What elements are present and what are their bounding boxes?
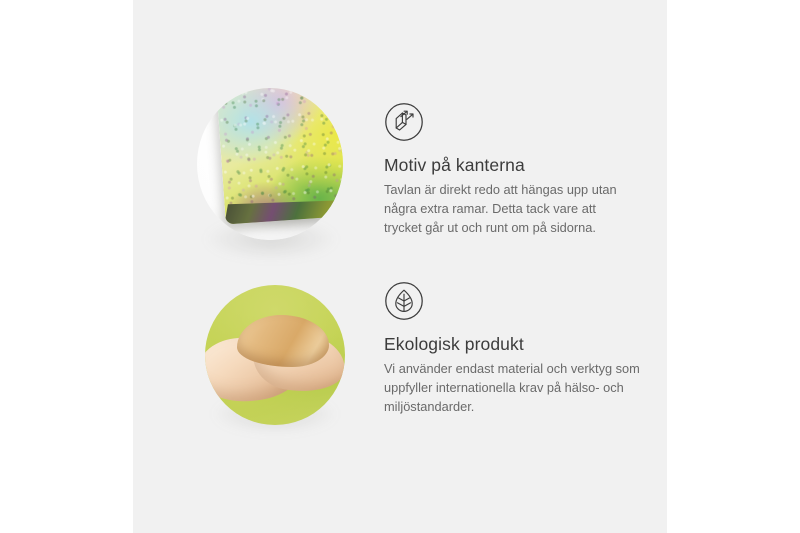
wood-chips [237, 315, 329, 367]
canvas-print-corner-photo [197, 88, 343, 240]
hands-holding-wood-chips-photo [205, 285, 345, 425]
feature-text-canvas-edges: Motiv på kanterna Tavlan är direkt redo … [384, 102, 634, 237]
feature-block-canvas-edges: Motiv på kanterna Tavlan är direkt redo … [133, 80, 667, 250]
canvas-edge-print-icon [384, 102, 424, 142]
feature-description: Tavlan är direkt redo att hängas upp uta… [384, 181, 634, 237]
hands [205, 329, 345, 409]
feature-text-eco-product: Ekologisk produkt Vi använder endast mat… [384, 281, 664, 416]
product-feature-banner: Motiv på kanterna Tavlan är direkt redo … [0, 0, 800, 533]
feature-title: Motiv på kanterna [384, 155, 634, 176]
feature-description: Vi använder endast material och verktyg … [384, 360, 664, 416]
feature-block-eco-product: Ekologisk produkt Vi använder endast mat… [133, 278, 667, 438]
leaf-icon [384, 281, 424, 321]
feature-title: Ekologisk produkt [384, 334, 664, 355]
canvas-block [216, 88, 343, 224]
